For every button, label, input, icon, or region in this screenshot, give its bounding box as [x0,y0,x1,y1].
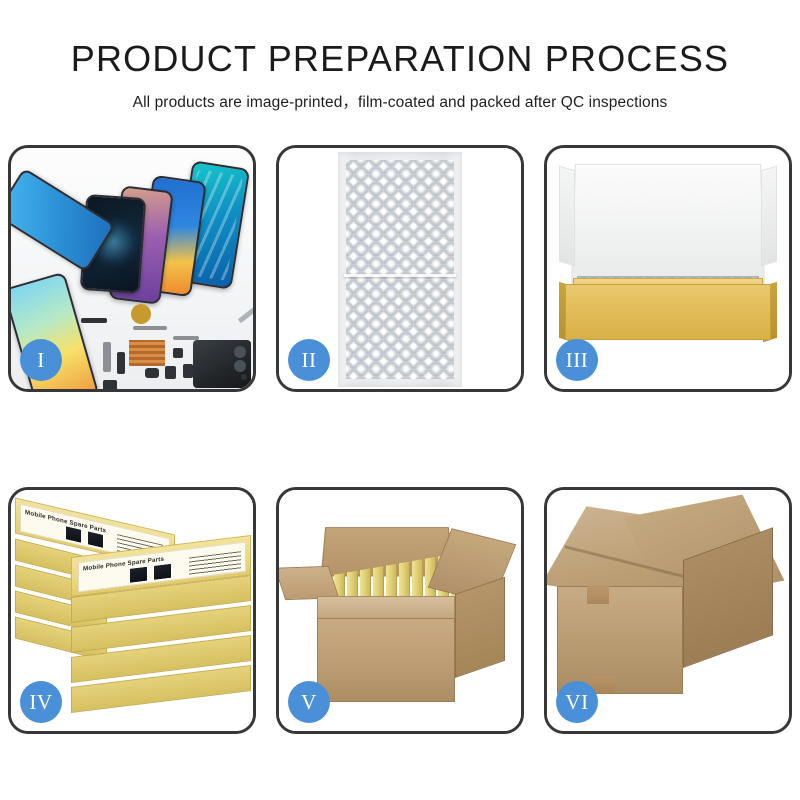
carton-front-rim [317,596,455,620]
step-numeral-4: IV [29,690,52,715]
part-buzzer [145,368,159,378]
part-screw-1 [241,374,247,380]
step-badge-5: V [288,681,330,723]
header: PRODUCT PREPARATION PROCESS All products… [0,0,800,112]
box-label-specs-front [189,551,241,577]
mailer-lid-left-flap [559,166,575,267]
box-label-screen-a-front [129,566,148,584]
carton-left-flap [279,566,339,600]
process-step-grid: I II [8,145,792,734]
part-camera-module [173,348,183,358]
mailer-lid [571,164,765,289]
page-subtitle: All products are image-printed，film-coat… [0,90,800,112]
box-label-screen-b-front [153,563,172,581]
bubble-texture [346,160,454,379]
carton-front-face [317,618,455,702]
page-title: PRODUCT PREPARATION PROCESS [0,38,800,79]
part-screw-2 [251,382,253,387]
step-card-3: III [544,145,792,392]
part-connector [117,352,125,374]
sealed-carton-front-face [557,586,683,694]
step-numeral-2: II [302,348,317,373]
product-preparation-infographic: PRODUCT PREPARATION PROCESS All products… [0,0,800,800]
step-badge-2: II [288,339,330,381]
part-button [165,366,176,379]
carton-right-face [455,577,505,678]
mailer-tray [565,284,771,340]
part-gold-coil [131,304,151,324]
step-numeral-3: III [566,348,588,373]
bubble-wrap-sheet [338,152,462,387]
part-logic-board [193,340,251,388]
step-card-6: VI [544,487,792,734]
step-numeral-6: VI [565,690,588,715]
step-badge-6: VI [556,681,598,723]
step-badge-4: IV [20,681,62,723]
step-numeral-5: V [301,690,317,715]
step-badge-1: I [20,339,62,381]
part-flex-cable-1 [133,326,167,330]
sealed-carton-tape-top [587,586,609,604]
spare-parts-cluster [81,296,253,389]
step-card-2: II [276,145,524,392]
part-speaker [81,318,107,323]
step-card-1: I [8,145,256,392]
step-numeral-1: I [37,348,45,373]
box-label-title-front: Mobile Phone Spare Parts [83,556,164,573]
part-flex-cable-2 [103,342,111,372]
mailer-lid-right-flap [761,166,777,267]
step-card-5: V [276,487,524,734]
box-label-screen-a-back [65,525,82,544]
bubble-wrap-seam [344,274,456,277]
part-sensor [103,380,117,389]
part-sim-tray [183,364,193,378]
step-badge-3: III [556,339,598,381]
part-chip-array [129,340,165,366]
part-tweezers [238,306,253,323]
box-label-screen-b-back [87,530,104,549]
step-card-4: Mobile Phone Spare Parts [8,487,256,734]
